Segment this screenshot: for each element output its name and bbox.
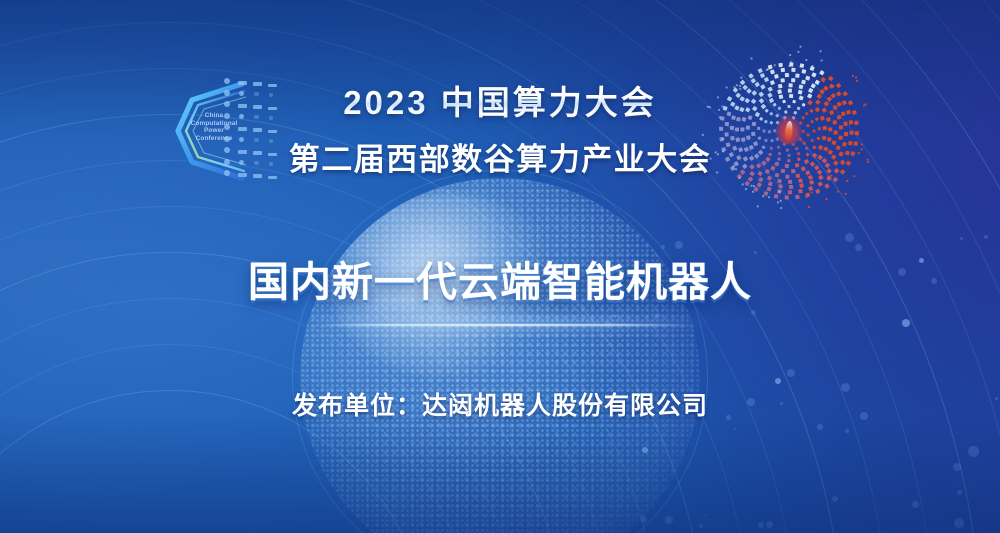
presentation-slide: China Computational Power Conference 202… — [0, 0, 1000, 533]
conference-header: 2023 中国算力大会 第二届西部数谷算力产业大会 — [0, 76, 1000, 179]
slide-content: 2023 中国算力大会 第二届西部数谷算力产业大会 国内新一代云端智能机器人 发… — [0, 0, 1000, 533]
conference-title-line2: 第二届西部数谷算力产业大会 — [0, 134, 1000, 179]
conference-title-line1: 2023 中国算力大会 — [343, 76, 657, 124]
slide-presenter: 发布单位：达闼机器人股份有限公司 — [0, 386, 1000, 422]
slide-headline: 国内新一代云端智能机器人 — [0, 248, 1000, 308]
